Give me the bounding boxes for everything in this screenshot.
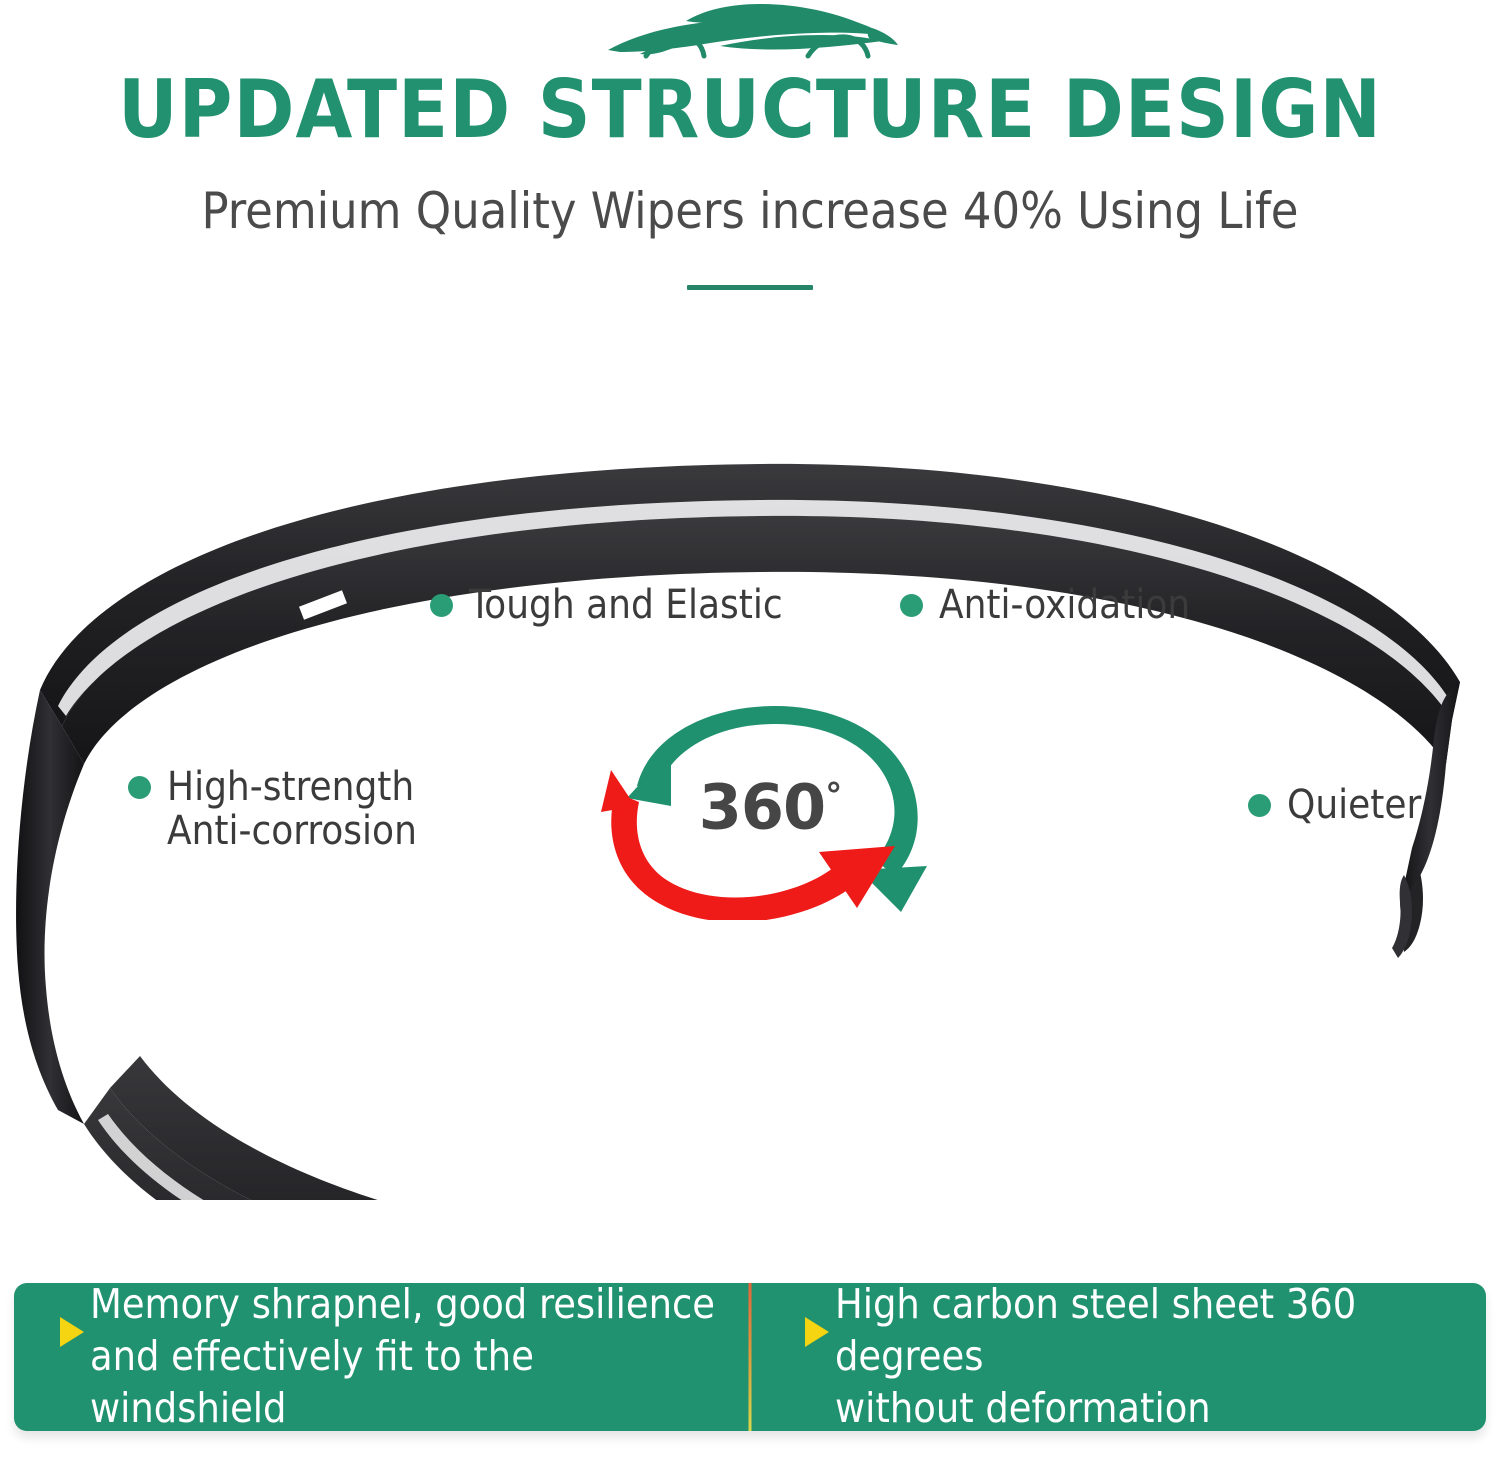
feature-anti-oxidation: Anti-oxidation [900, 583, 1190, 627]
feature-label: Tough and Elastic [469, 583, 783, 627]
product-feature-page: UPDATED STRUCTURE DESIGN Premium Quality… [0, 0, 1500, 1475]
page-subtitle: Premium Quality Wipers increase 40% Usin… [0, 182, 1500, 240]
badge-degree-symbol: ° [825, 776, 841, 816]
bullet-dot-icon [1248, 794, 1271, 817]
badge-value: 360° [575, 764, 965, 840]
feature-quieter: Quieter [1248, 783, 1421, 827]
feature-banner: Memory shrapnel, good resilience and eff… [14, 1283, 1486, 1431]
banner-item-high-carbon-steel: High carbon steel sheet 360 degrees with… [741, 1283, 1486, 1431]
feature-label: Anti-oxidation [939, 583, 1190, 627]
feature-high-strength-anti-corrosion: High-strength Anti-corrosion [128, 765, 417, 853]
title-underline-rule [687, 285, 813, 290]
banner-item-memory-shrapnel: Memory shrapnel, good resilience and eff… [14, 1283, 741, 1431]
triangle-right-icon [805, 1317, 829, 1347]
feature-label: High-strength Anti-corrosion [167, 765, 417, 853]
banner-item-text: High carbon steel sheet 360 degrees with… [805, 1278, 1486, 1434]
feature-tough-and-elastic: Tough and Elastic [430, 583, 783, 627]
bullet-dot-icon [430, 594, 453, 617]
banner-item-text: Memory shrapnel, good resilience and eff… [60, 1278, 741, 1434]
triangle-right-icon [60, 1317, 84, 1347]
badge-number: 360 [699, 771, 825, 844]
feature-label: Quieter [1287, 783, 1421, 827]
bullet-dot-icon [900, 594, 923, 617]
rotation-360-badge: 360° [575, 690, 965, 920]
page-title: UPDATED STRUCTURE DESIGN [0, 68, 1500, 152]
car-silhouette-logo-icon [600, 2, 900, 64]
bullet-dot-icon [128, 776, 151, 799]
